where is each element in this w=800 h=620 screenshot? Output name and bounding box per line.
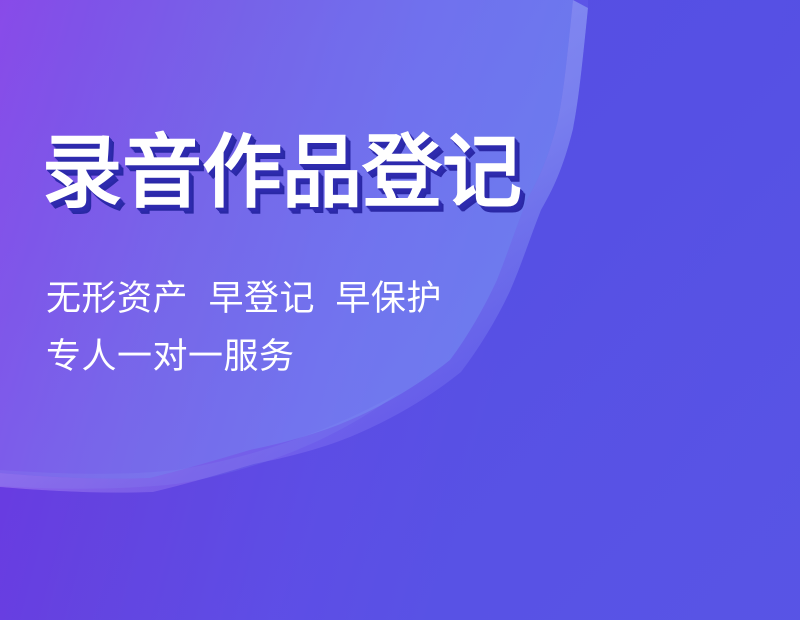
page-title: 录音作品登记 — [42, 132, 522, 214]
subtitle-line-2: 专人一对一服务 — [46, 328, 522, 386]
banner-text-block: 录音作品登记 无形资产 早登记 早保护 专人一对一服务 — [42, 132, 522, 386]
subtitle-line-1: 无形资产 早登记 早保护 — [46, 270, 522, 328]
promo-banner: 录音作品登记 无形资产 早登记 早保护 专人一对一服务 — [0, 0, 800, 620]
arc-soft-streak — [0, 392, 400, 489]
subtitle-group: 无形资产 早登记 早保护 专人一对一服务 — [46, 270, 522, 386]
